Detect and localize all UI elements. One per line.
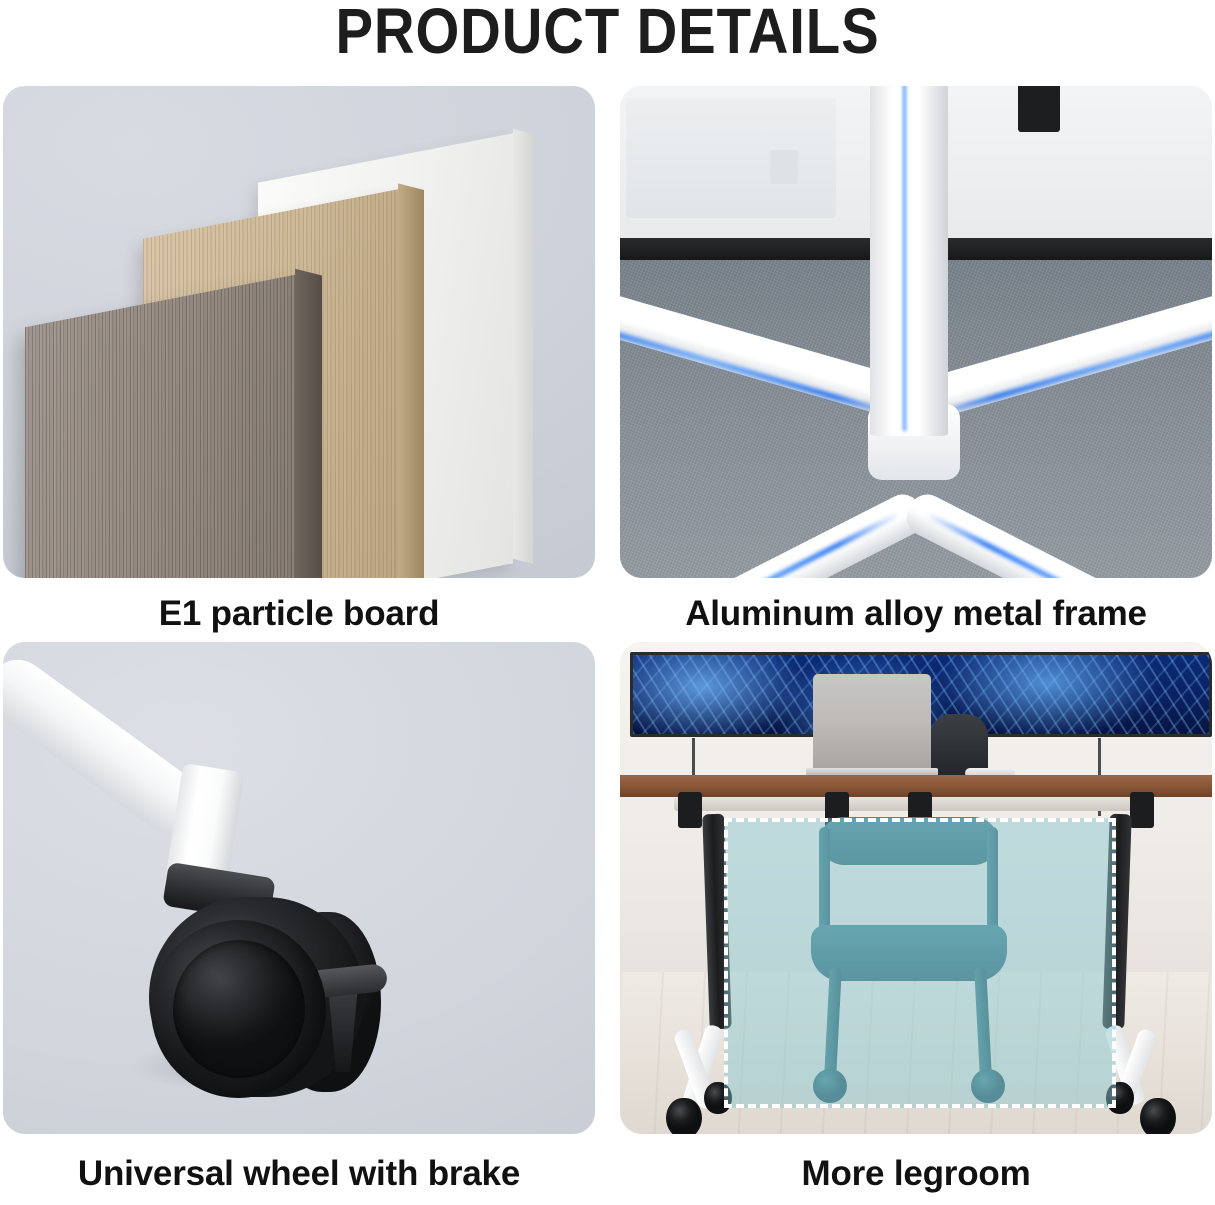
caster-wheel-hub	[173, 940, 305, 1078]
light-oak-board-edge	[398, 183, 424, 578]
desk-bracket-1	[678, 792, 702, 828]
desk-caster-right-front	[1140, 1098, 1176, 1134]
frame-center-column	[870, 86, 948, 436]
universal-wheel-photo	[3, 642, 595, 1134]
wall-fixture	[1018, 86, 1060, 132]
caption-universal-wheel: Universal wheel with brake	[3, 1152, 595, 1196]
feature-card-universal-wheel[interactable]: Universal wheel with brake	[3, 642, 595, 1196]
desk-apron	[674, 797, 1134, 811]
wall-tab	[770, 150, 798, 184]
wall-panel	[626, 98, 836, 218]
aluminum-frame-photo	[620, 86, 1212, 578]
legroom-highlight-area	[724, 818, 1116, 1108]
caption-more-legroom: More legroom	[620, 1152, 1212, 1196]
gray-oak-board-sample	[25, 275, 295, 578]
feature-card-particle-board[interactable]: E1 particle board	[3, 86, 595, 636]
laptop	[813, 674, 931, 770]
feature-card-aluminum-frame[interactable]: Aluminum alloy metal frame	[620, 86, 1212, 636]
column-blue-glow	[902, 86, 908, 431]
caption-aluminum-frame: Aluminum alloy metal frame	[620, 592, 1212, 636]
product-details-page: PRODUCT DETAILS E1 particle board	[0, 0, 1215, 1205]
desk-bracket-4	[1130, 792, 1154, 828]
more-legroom-photo	[620, 642, 1212, 1134]
particle-board-photo	[3, 86, 595, 578]
white-board-edge	[513, 129, 533, 564]
feature-card-more-legroom[interactable]: More legroom	[620, 642, 1212, 1196]
gray-oak-board-edge	[295, 269, 322, 578]
desk-caster-left-front	[666, 1098, 702, 1134]
page-title: PRODUCT DETAILS	[73, 0, 1142, 66]
caption-particle-board: E1 particle board	[3, 592, 595, 636]
feature-card-grid: E1 particle board	[0, 86, 1215, 1205]
